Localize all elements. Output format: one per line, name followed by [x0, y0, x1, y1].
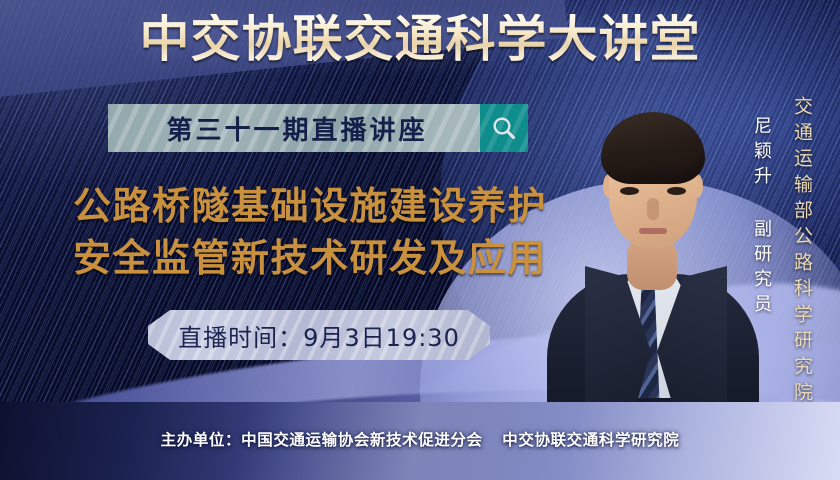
livestream-poster: 中交协联交通科学大讲堂 第三十一期直播讲座 公路桥隧基础设施建设养护 安全监管新…: [0, 0, 840, 480]
episode-bar: 第三十一期直播讲座: [108, 104, 528, 152]
footer-host-text: 主办单位：中国交通运输协会新技术促进分会 中交协联交通科学研究院: [0, 428, 840, 450]
portrait-hair: [601, 112, 705, 184]
poster-footer: 主办单位：中国交通运输协会新技术促进分会 中交协联交通科学研究院: [0, 402, 840, 480]
broadcast-time-pill: 直播时间：9月3日19:30: [148, 310, 490, 360]
broadcast-time-text: 直播时间：9月3日19:30: [178, 318, 460, 353]
portrait-eye-left: [620, 187, 639, 195]
portrait-nose: [647, 198, 659, 220]
speaker-name-title: 尼颖升 副研究员: [748, 116, 774, 319]
headline-line-2: 安全监管新技术研发及应用: [30, 232, 590, 284]
speaker-organization: 交通运输部公路科学研究院: [789, 96, 816, 408]
episode-label: 第三十一期直播讲座: [108, 110, 480, 147]
speaker-portrait: [565, 78, 740, 408]
portrait-eye-right: [667, 187, 686, 195]
search-icon: [480, 104, 528, 152]
portrait-mouth: [639, 228, 667, 234]
lecture-headline: 公路桥隧基础设施建设养护 安全监管新技术研发及应用: [30, 180, 590, 285]
poster-masthead-title: 中交协联交通科学大讲堂: [0, 14, 840, 64]
headline-line-1: 公路桥隧基础设施建设养护: [30, 180, 590, 232]
